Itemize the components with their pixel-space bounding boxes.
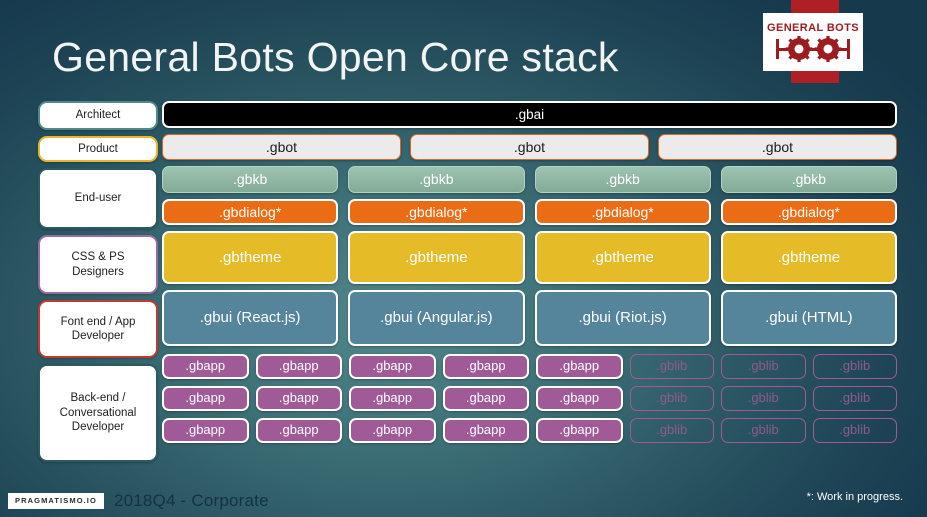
stack-cell-gblib[interactable]: .gblib — [721, 418, 806, 443]
stack-cell-gbkb[interactable]: .gbkb — [721, 166, 897, 193]
role-label-css-ps-designers-text: CSS & PSDesigners — [71, 250, 124, 279]
stack-cell-gbtheme[interactable]: .gbtheme — [162, 231, 338, 284]
stack-cell-gblib[interactable]: .gblib — [630, 354, 715, 379]
general-bots-logo: GENERAL BOTS — [763, 0, 875, 83]
role-label-css-ps-designers: CSS & PSDesigners — [38, 235, 158, 294]
stack-cell-gbapp[interactable]: .gbapp — [536, 418, 623, 443]
stack-cell-gbapp[interactable]: .gbapp — [349, 386, 436, 411]
stack-cell-gbui-angular[interactable]: .gbui (Angular.js) — [348, 290, 524, 346]
stack-cell-gbapp[interactable]: .gbapp — [443, 354, 530, 379]
page-title: General Bots Open Core stack — [52, 34, 619, 81]
stack-cell-gblib[interactable]: .gblib — [813, 354, 898, 379]
stack-cell-gbtheme[interactable]: .gbtheme — [721, 231, 897, 284]
footer-caption: 2018Q4 - Corporate — [114, 491, 269, 511]
stack-cell-gblib[interactable]: .gblib — [721, 386, 806, 411]
stack-cell-gbapp[interactable]: .gbapp — [349, 418, 436, 443]
role-label-back-end-conversational-developer: Back-end /ConversationalDeveloper — [38, 364, 158, 462]
stack-cell-gblib[interactable]: .gblib — [630, 418, 715, 443]
stack-row-apps: .gbapp .gbapp .gbapp .gbapp .gbapp .gbli… — [162, 386, 897, 411]
stack-cell-gblib[interactable]: .gblib — [813, 418, 898, 443]
stack-row-gbkb: .gbkb .gbkb .gbkb .gbkb — [162, 166, 897, 193]
gears-icon — [774, 36, 852, 62]
footer-left: PRAGMATISMO.IO 2018Q4 - Corporate — [8, 491, 269, 511]
stack-cell-gbtheme[interactable]: .gbtheme — [348, 231, 524, 284]
stack-cell-gbdialog[interactable]: .gbdialog* — [348, 199, 524, 225]
stack-cell-gblib[interactable]: .gblib — [813, 386, 898, 411]
stack-cell-gbtheme[interactable]: .gbtheme — [535, 231, 711, 284]
role-label-end-user: End-user — [38, 168, 158, 229]
role-label-front-end-app-developer-text: Font end / AppDeveloper — [61, 315, 136, 344]
stack-cell-gbapp[interactable]: .gbapp — [536, 386, 623, 411]
stack-cell-gbot[interactable]: .gbot — [658, 134, 897, 160]
stack-row-gbui: .gbui (React.js) .gbui (Angular.js) .gbu… — [162, 290, 897, 346]
stack-cell-gbapp[interactable]: .gbapp — [162, 386, 249, 411]
slide-canvas: General Bots Open Core stack GENERAL BOT… — [0, 0, 927, 517]
stack-cell-gbot[interactable]: .gbot — [162, 134, 401, 160]
stack-row-apps: .gbapp .gbapp .gbapp .gbapp .gbapp .gbli… — [162, 354, 897, 379]
stack-cell-gblib[interactable]: .gblib — [630, 386, 715, 411]
stack-cell-gbui-react[interactable]: .gbui (React.js) — [162, 290, 338, 346]
stack-cell-gbapp[interactable]: .gbapp — [162, 354, 249, 379]
role-label-front-end-app-developer: Font end / AppDeveloper — [38, 300, 158, 358]
stack-cell-gbapp[interactable]: .gbapp — [256, 418, 343, 443]
stack-cell-gbkb[interactable]: .gbkb — [348, 166, 524, 193]
stack-cell-gbapp[interactable]: .gbapp — [256, 386, 343, 411]
role-label-architect: Architect — [38, 101, 158, 130]
role-label-column: Architect Product End-user CSS & PSDesig… — [38, 101, 158, 462]
stack-row-gbtheme: .gbtheme .gbtheme .gbtheme .gbtheme — [162, 231, 897, 284]
stack-cell-gbkb[interactable]: .gbkb — [162, 166, 338, 193]
stack-cell-gbai[interactable]: .gbai — [162, 101, 897, 128]
stack-bottom-grid: .gbapp .gbapp .gbapp .gbapp .gbapp .gbli… — [162, 354, 897, 443]
role-label-product: Product — [38, 136, 158, 162]
role-label-architect-text: Architect — [76, 108, 121, 122]
stack-row-gbot: .gbot .gbot .gbot — [162, 134, 897, 160]
stack-cell-gbapp[interactable]: .gbapp — [162, 418, 249, 443]
stack-row-gbdialog: .gbdialog* .gbdialog* .gbdialog* .gbdial… — [162, 199, 897, 225]
stack-cell-gbkb[interactable]: .gbkb — [535, 166, 711, 193]
stack-cell-gbdialog[interactable]: .gbdialog* — [535, 199, 711, 225]
role-label-product-text: Product — [78, 142, 118, 156]
stack-cell-gbot[interactable]: .gbot — [410, 134, 649, 160]
stack-diagram: .gbai .gbot .gbot .gbot .gbkb .gbkb .gbk… — [162, 101, 897, 443]
pragmatismo-logo: PRAGMATISMO.IO — [8, 493, 104, 509]
stack-cell-gblib[interactable]: .gblib — [721, 354, 806, 379]
stack-cell-gbui-riot[interactable]: .gbui (Riot.js) — [535, 290, 711, 346]
stack-row-gbai: .gbai — [162, 101, 897, 128]
stack-cell-gbdialog[interactable]: .gbdialog* — [721, 199, 897, 225]
stack-cell-gbapp[interactable]: .gbapp — [256, 354, 343, 379]
footer-note: *: Work in progress. — [807, 491, 903, 503]
stack-cell-gbdialog[interactable]: .gbdialog* — [162, 199, 338, 225]
stack-cell-gbapp[interactable]: .gbapp — [349, 354, 436, 379]
stack-cell-gbui-html[interactable]: .gbui (HTML) — [721, 290, 897, 346]
logo-card: GENERAL BOTS — [763, 13, 863, 71]
stack-cell-gbapp[interactable]: .gbapp — [443, 386, 530, 411]
role-label-end-user-text: End-user — [75, 191, 122, 205]
role-label-back-end-conversational-developer-text: Back-end /ConversationalDeveloper — [60, 391, 137, 434]
stack-row-apps: .gbapp .gbapp .gbapp .gbapp .gbapp .gbli… — [162, 418, 897, 443]
stack-cell-gbapp[interactable]: .gbapp — [536, 354, 623, 379]
logo-wordmark: GENERAL BOTS — [767, 23, 859, 34]
stack-cell-gbapp[interactable]: .gbapp — [443, 418, 530, 443]
